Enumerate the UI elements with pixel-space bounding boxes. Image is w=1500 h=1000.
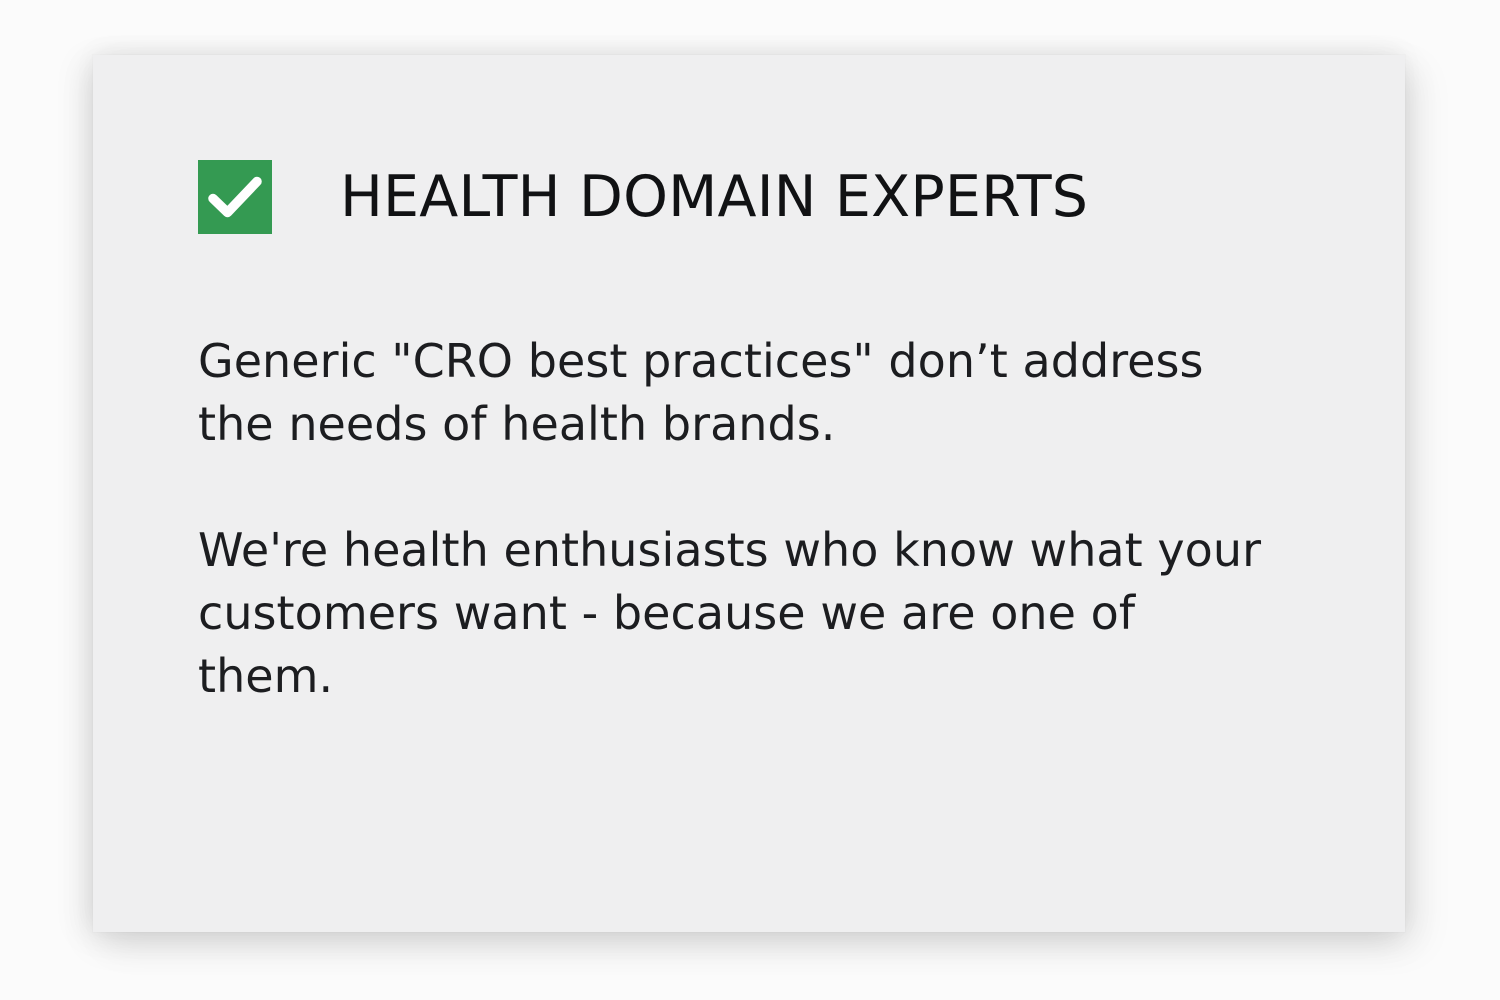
- card-header: HEALTH DOMAIN EXPERTS: [198, 155, 1088, 239]
- screenshot-stage: HEALTH DOMAIN EXPERTS Generic "CRO best …: [0, 0, 1500, 1000]
- card-title: HEALTH DOMAIN EXPERTS: [340, 169, 1088, 226]
- check-square-icon: [198, 160, 272, 234]
- card-paragraph-2: We're health enthusiasts who know what y…: [198, 519, 1278, 709]
- card-body: Generic "CRO best practices" don’t addre…: [198, 330, 1278, 708]
- health-domain-experts-card: HEALTH DOMAIN EXPERTS Generic "CRO best …: [93, 55, 1405, 932]
- card-paragraph-1: Generic "CRO best practices" don’t addre…: [198, 330, 1278, 457]
